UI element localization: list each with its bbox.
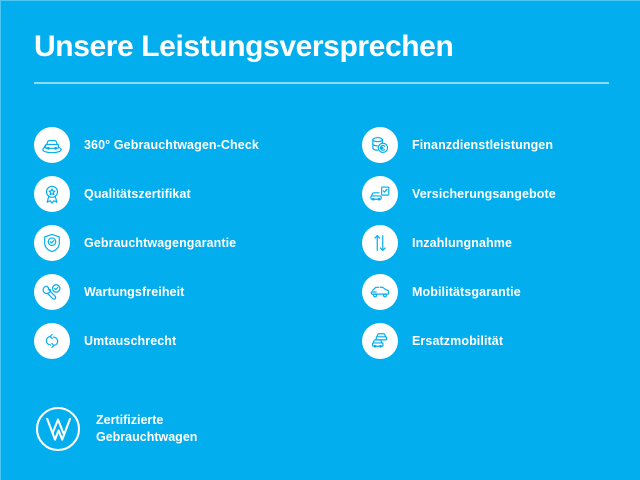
promise-label: Qualitätszertifikat [84, 186, 191, 202]
promise-label: Finanzdienstleistungen [412, 137, 553, 153]
footer: Zertifizierte Gebrauchtwagen [34, 405, 197, 453]
promise-item-finanzdienstleistungen: Finanzdienstleistungen [362, 127, 637, 163]
promise-item-gebrauchtwagengarantie: Gebrauchtwagengarantie [34, 225, 334, 261]
up-down-arrows-icon [362, 225, 398, 261]
promise-label: Umtauschrecht [84, 333, 176, 349]
coins-euro-icon [362, 127, 398, 163]
volkswagen-logo [34, 405, 82, 453]
promise-label: 360° Gebrauchtwagen-Check [84, 137, 259, 153]
header-divider [34, 82, 609, 84]
promise-item-wartungsfreiheit: Wartungsfreiheit [34, 274, 334, 310]
page-title: Unsere Leistungsversprechen [34, 28, 609, 66]
footer-text: Zertifizierte Gebrauchtwagen [96, 412, 197, 446]
promise-item-umtauschrecht: Umtauschrecht [34, 323, 334, 359]
promise-item-qualitaetszertifikat: Qualitätszertifikat [34, 176, 334, 212]
promise-column-right: Finanzdienstleistungen Versicherungsange… [362, 127, 637, 372]
promise-column-left: 360° Gebrauchtwagen-Check Qualitätszerti… [34, 127, 334, 372]
car-clipboard-icon [362, 176, 398, 212]
promise-label: Mobilitätsgarantie [412, 284, 521, 300]
promise-label: Ersatzmobilität [412, 333, 503, 349]
promise-item-mobilitaetsgarantie: Mobilitätsgarantie [362, 274, 637, 310]
promise-item-versicherungsangebote: Versicherungsangebote [362, 176, 637, 212]
promise-label: Inzahlungnahme [412, 235, 512, 251]
promise-label: Gebrauchtwagengarantie [84, 235, 236, 251]
wrench-check-icon [34, 274, 70, 310]
two-cars-icon [362, 323, 398, 359]
tow-truck-icon [362, 274, 398, 310]
promise-label: Versicherungsangebote [412, 186, 556, 202]
promise-item-ersatzmobilitaet: Ersatzmobilität [362, 323, 637, 359]
footer-line-2: Gebrauchtwagen [96, 429, 197, 446]
promise-item-gebrauchtwagen-check: 360° Gebrauchtwagen-Check [34, 127, 334, 163]
header: Unsere Leistungsversprechen [34, 28, 609, 84]
promise-item-inzahlungnahme: Inzahlungnahme [362, 225, 637, 261]
exchange-arrows-icon [34, 323, 70, 359]
promise-label: Wartungsfreiheit [84, 284, 184, 300]
car-360-check-icon [34, 127, 70, 163]
shield-check-icon [34, 225, 70, 261]
footer-line-1: Zertifizierte [96, 412, 197, 429]
quality-seal-icon [34, 176, 70, 212]
promises-poster: Unsere Leistungsversprechen 360° Gebrauc… [0, 0, 640, 480]
